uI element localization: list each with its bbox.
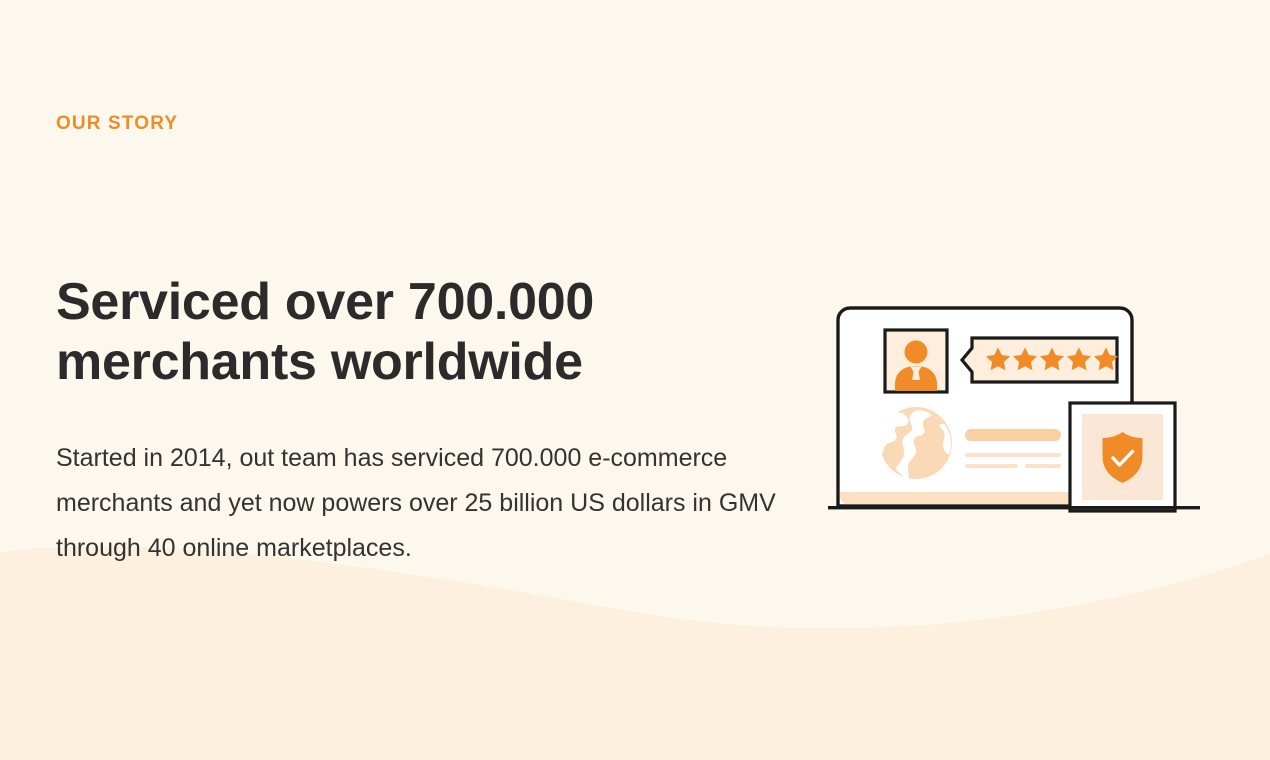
rating-bubble <box>962 338 1118 382</box>
headline-line-2: merchants worldwide <box>56 332 756 392</box>
text-column: OUR STORY Serviced over 700.000 merchant… <box>56 0 816 760</box>
section-description: Started in 2014, out team has serviced 7… <box>56 436 796 571</box>
bubble-shape <box>962 338 1117 382</box>
illustration <box>820 286 1220 531</box>
content-line-tertiary-a <box>965 464 1018 468</box>
laptop-base <box>828 506 1200 509</box>
verified-badge-card <box>1070 403 1175 511</box>
headline-line-1: Serviced over 700.000 <box>56 272 756 332</box>
merchant-review-dashboard-illustration <box>820 286 1220 531</box>
our-story-section: OUR STORY Serviced over 700.000 merchant… <box>0 0 1270 760</box>
content-line-primary <box>965 429 1061 441</box>
content-line-tertiary-b <box>1025 464 1061 468</box>
section-eyebrow: OUR STORY <box>56 113 178 136</box>
content-line-secondary <box>965 453 1061 457</box>
avatar <box>885 330 947 392</box>
page-title: Serviced over 700.000 merchants worldwid… <box>56 272 756 393</box>
